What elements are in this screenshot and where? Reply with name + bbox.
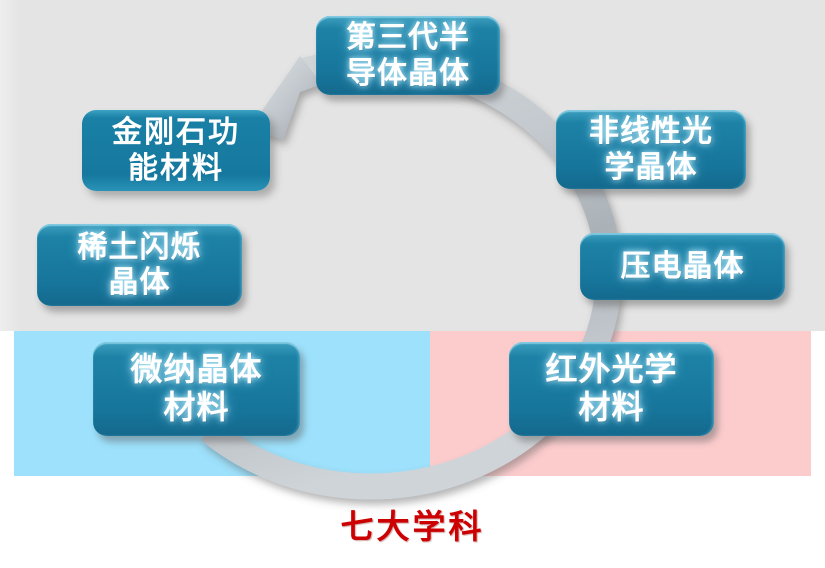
node-piezoelectric-crystal-label: 压电晶体 bbox=[615, 249, 751, 284]
node-diamond-functional-material[interactable]: 金刚石功能材料 bbox=[82, 110, 270, 191]
node-micro-nano-crystal-material[interactable]: 微纳晶体材料 bbox=[93, 342, 300, 436]
node-rare-earth-scintillation-crystal-label: 稀土闪烁晶体 bbox=[72, 230, 208, 301]
node-diamond-functional-material-label: 金刚石功能材料 bbox=[106, 115, 246, 186]
node-infrared-optical-material-label: 红外光学材料 bbox=[539, 351, 683, 427]
node-nonlinear-optical-crystal[interactable]: 非线性光学晶体 bbox=[556, 110, 746, 189]
node-infrared-optical-material[interactable]: 红外光学材料 bbox=[509, 342, 714, 436]
node-semiconductor[interactable]: 第三代半导体晶体 bbox=[316, 16, 500, 95]
node-micro-nano-crystal-material-label: 微纳晶体材料 bbox=[124, 351, 268, 427]
node-nonlinear-optical-crystal-label: 非线性光学晶体 bbox=[583, 114, 719, 185]
node-semiconductor-label: 第三代半导体晶体 bbox=[340, 20, 476, 91]
diagram-canvas: 第三代半导体晶体 非线性光学晶体 压电晶体 红外光学材料 微纳晶体材料 稀土闪烁… bbox=[0, 0, 825, 568]
node-piezoelectric-crystal[interactable]: 压电晶体 bbox=[580, 233, 785, 300]
node-rare-earth-scintillation-crystal[interactable]: 稀土闪烁晶体 bbox=[37, 224, 242, 306]
diagram-caption: 七大学科 bbox=[0, 500, 825, 548]
